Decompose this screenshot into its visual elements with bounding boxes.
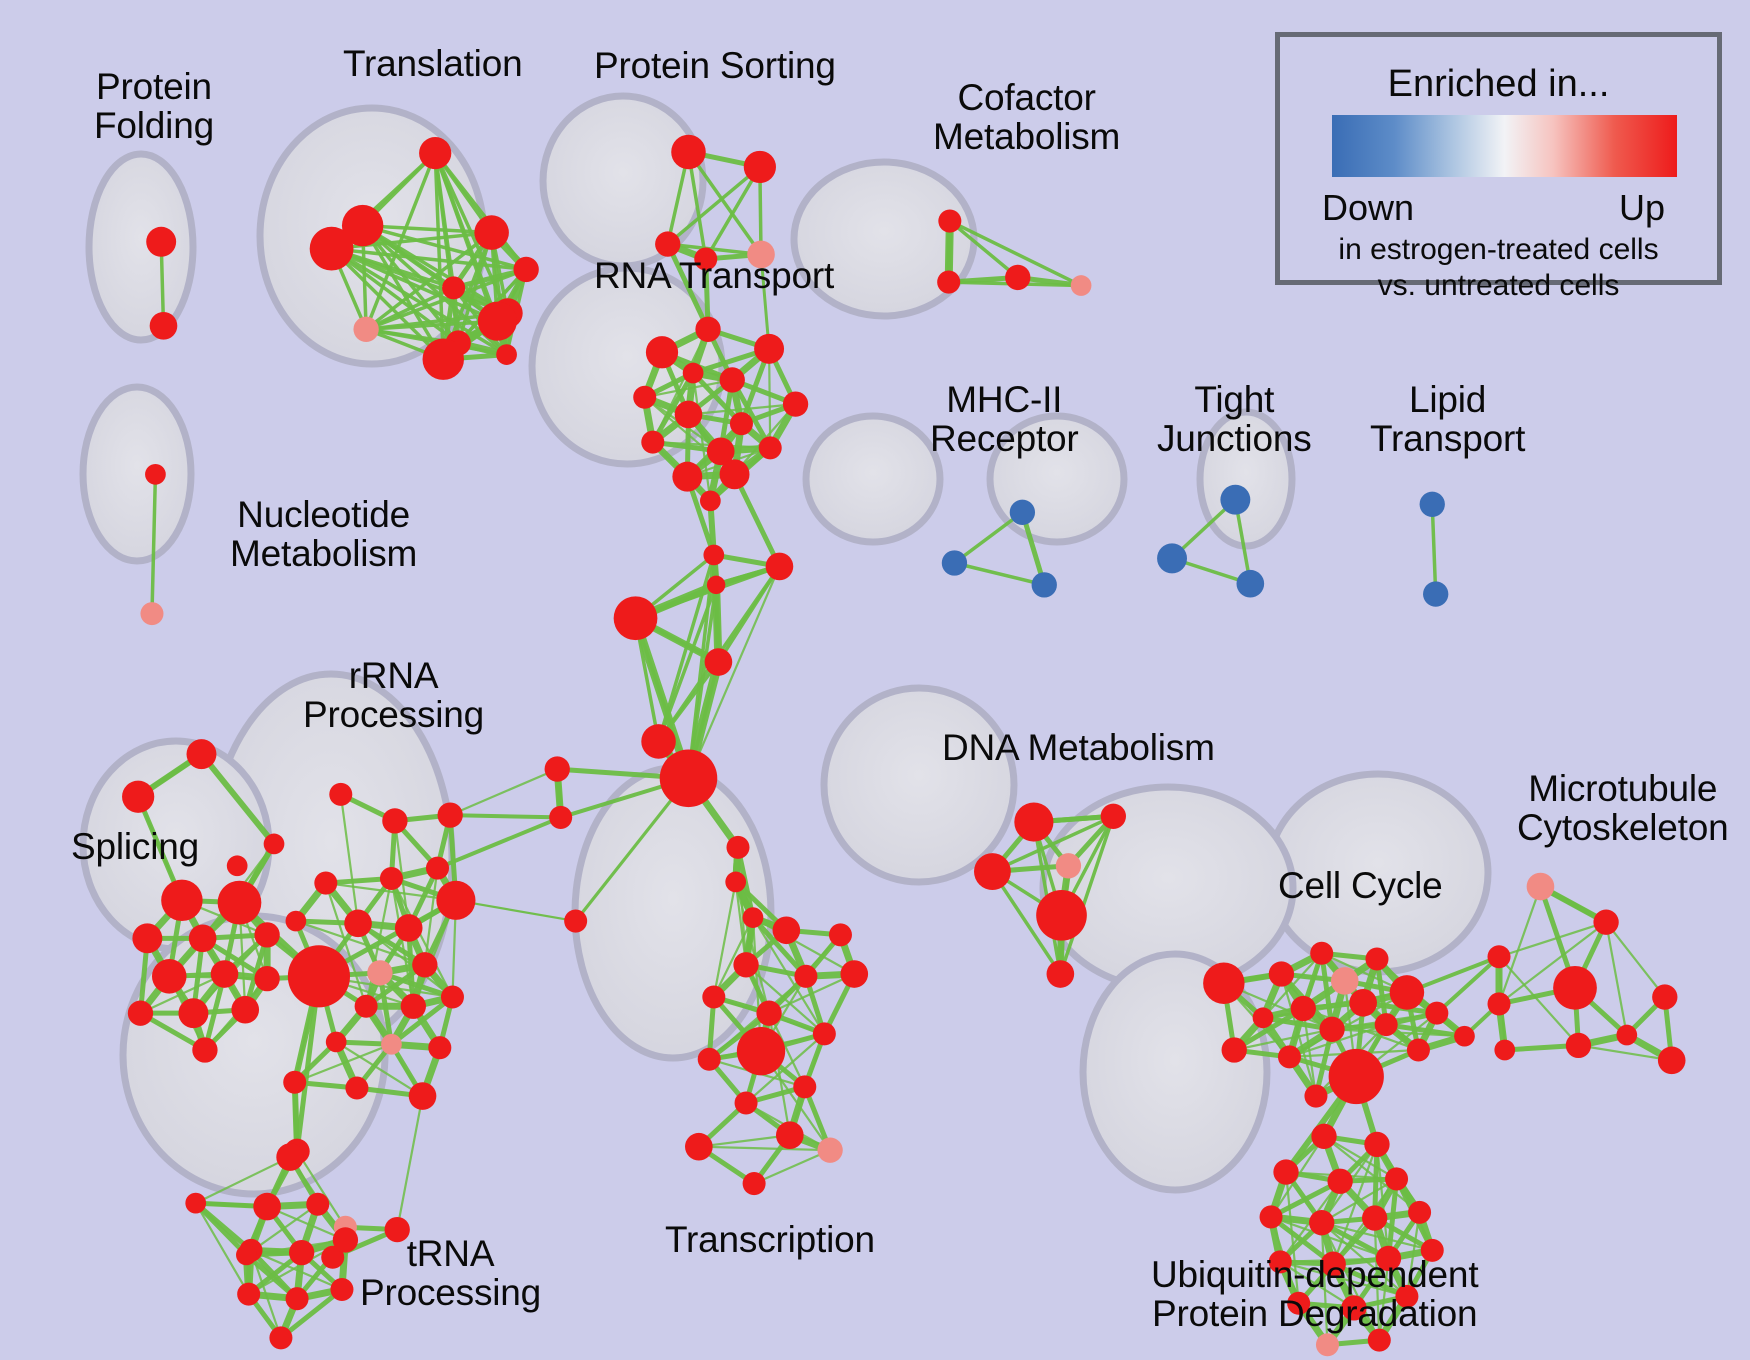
network-node[interactable] [766,553,794,581]
network-node[interactable] [227,855,248,876]
cluster-label-cell-cycle: Cell Cycle [1278,866,1443,905]
network-node[interactable] [1385,1167,1408,1190]
network-node[interactable] [813,1022,836,1045]
network-node[interactable] [438,802,463,827]
network-node[interactable] [1101,804,1126,829]
network-node[interactable] [441,986,464,1009]
network-node[interactable] [289,1240,314,1265]
network-node[interactable] [1273,1159,1298,1184]
network-node[interactable] [1047,960,1075,988]
network-node[interactable] [743,907,764,928]
network-node[interactable] [1329,1049,1384,1104]
network-node[interactable] [146,227,176,257]
network-node[interactable] [1309,1210,1334,1235]
network-node[interactable] [655,231,680,256]
network-node[interactable] [840,960,868,988]
cluster-label-tight-junctions: Tight Junctions [1157,380,1312,458]
network-node[interactable] [1331,967,1359,995]
cluster-blob-nucleotide-metabolism [83,387,191,561]
network-node[interactable] [253,1193,281,1221]
network-node[interactable] [264,834,285,855]
network-node[interactable] [683,363,704,384]
network-node[interactable] [1157,543,1187,573]
network-node[interactable] [549,806,572,829]
network-node[interactable] [1658,1047,1686,1075]
network-node[interactable] [1408,1201,1431,1224]
network-node[interactable] [1260,1205,1283,1228]
network-node[interactable] [513,257,538,282]
network-node[interactable] [152,959,187,994]
network-node[interactable] [1220,485,1250,515]
network-node[interactable] [1593,910,1618,935]
network-node[interactable] [829,923,852,946]
cluster-label-lipid-transport: Lipid Transport [1370,380,1525,458]
network-node[interactable] [344,910,372,938]
network-node[interactable] [269,1326,292,1349]
network-node[interactable] [426,857,449,880]
network-node[interactable] [140,602,163,625]
network-node[interactable] [1488,945,1511,968]
network-node[interactable] [733,952,758,977]
network-node[interactable] [1316,1333,1339,1356]
network-node[interactable] [1032,572,1057,597]
network-node[interactable] [700,490,721,511]
network-node[interactable] [412,952,437,977]
network-node[interactable] [353,317,378,342]
network-node[interactable] [1423,581,1448,606]
cluster-blob-protein-folding [89,154,193,340]
network-node[interactable] [428,1036,451,1059]
network-node[interactable] [1010,500,1035,525]
network-node[interactable] [735,1091,758,1114]
network-node[interactable] [1310,942,1333,965]
network-node[interactable] [641,431,664,454]
network-node[interactable] [646,336,678,368]
network-node[interactable] [474,215,509,250]
network-node[interactable] [436,881,475,920]
cluster-blob-mhc-ii-receptor [806,416,940,542]
network-figure: Protein FoldingTranslationProtein Sortin… [0,0,1750,1360]
cluster-label-rrna-processing: rRNA Processing [303,656,484,734]
network-node[interactable] [189,925,217,953]
network-node[interactable] [1365,948,1388,971]
network-node[interactable] [720,459,750,489]
network-node[interactable] [1616,1025,1637,1046]
cluster-label-mhc-ii-receptor: MHC-II Receptor [930,380,1079,458]
cluster-label-ubiquitin-protein-degradation: Ubiquitin-dependent Protein Degradation [1151,1255,1478,1333]
network-node[interactable] [675,401,703,429]
network-node[interactable] [707,576,725,594]
network-node[interactable] [345,1076,368,1099]
network-node[interactable] [401,994,426,1019]
network-node[interactable] [776,1121,804,1149]
network-node[interactable] [773,916,801,944]
network-node[interactable] [974,853,1011,890]
network-node[interactable] [703,545,724,566]
network-node[interactable] [1425,1002,1448,1025]
network-node[interactable] [283,1071,306,1094]
network-node[interactable] [1237,570,1265,598]
network-node[interactable] [423,338,464,379]
network-node[interactable] [367,960,392,985]
cluster-label-transcription: Transcription [665,1220,875,1259]
legend-subtitle-line2: vs. untreated cells [1280,269,1717,303]
cluster-label-rna-transport: RNA Transport [594,256,834,295]
network-node[interactable] [743,1172,766,1195]
network-node[interactable] [794,965,817,988]
network-node[interactable] [633,386,656,409]
network-node[interactable] [382,808,407,833]
network-node[interactable] [938,210,961,233]
network-node[interactable] [381,1034,402,1055]
network-node[interactable] [1203,963,1244,1004]
network-node[interactable] [380,867,403,890]
network-node[interactable] [286,1287,309,1310]
network-edge [450,769,557,815]
network-node[interactable] [1375,1013,1398,1036]
network-edge [699,1147,830,1150]
network-node[interactable] [1488,992,1511,1015]
cluster-blob-dna-metabolism [824,688,1014,882]
legend-box: Enriched in... Down Up in estrogen-treat… [1275,32,1722,285]
network-node[interactable] [1014,802,1053,841]
cluster-label-splicing: Splicing [71,827,199,866]
network-node[interactable] [1319,1017,1344,1042]
network-node[interactable] [185,1193,206,1214]
network-node[interactable] [1222,1037,1247,1062]
network-node[interactable] [478,302,517,341]
network-node[interactable] [695,317,720,342]
network-node[interactable] [330,1278,353,1301]
network-node[interactable] [793,1075,816,1098]
network-node[interactable] [759,436,782,459]
network-node[interactable] [178,998,208,1028]
network-node[interactable] [395,914,423,942]
network-edge [450,815,561,817]
network-node[interactable] [1494,1040,1515,1061]
network-node[interactable] [702,986,725,1009]
network-node[interactable] [937,271,960,294]
network-node[interactable] [326,1032,347,1053]
network-node[interactable] [545,756,570,781]
network-node[interactable] [1407,1038,1430,1061]
cluster-label-dna-metabolism: DNA Metabolism [942,728,1215,767]
network-node[interactable] [254,922,279,947]
network-node[interactable] [288,945,350,1007]
network-node[interactable] [1269,961,1294,986]
network-node[interactable] [744,151,776,183]
network-node[interactable] [1553,966,1597,1010]
network-edge [954,563,1044,585]
network-node[interactable] [1390,975,1425,1010]
network-node[interactable] [187,739,217,769]
network-edge [397,1096,422,1230]
network-node[interactable] [122,781,154,813]
network-edge [735,474,780,566]
network-node[interactable] [1291,996,1316,1021]
cluster-label-protein-sorting: Protein Sorting [594,46,836,85]
cluster-label-protein-folding: Protein Folding [94,67,214,145]
network-node[interactable] [1036,890,1087,941]
network-node[interactable] [1278,1045,1301,1068]
network-node[interactable] [310,227,354,271]
network-edge [954,512,1022,563]
network-node[interactable] [496,344,517,365]
network-node[interactable] [754,334,784,364]
network-node[interactable] [725,872,746,893]
legend-low-label: Down [1322,187,1414,229]
network-node[interactable] [685,1133,713,1161]
network-node[interactable] [614,596,658,640]
network-node[interactable] [1304,1085,1327,1108]
cluster-label-trna-processing: tRNA Processing [360,1234,541,1312]
network-node[interactable] [705,648,733,676]
network-node[interactable] [1327,1169,1352,1194]
network-node[interactable] [211,960,239,988]
network-node[interactable] [355,995,378,1018]
network-node[interactable] [329,783,352,806]
network-node[interactable] [145,464,166,485]
network-node[interactable] [730,412,753,435]
network-node[interactable] [333,1227,358,1252]
network-node[interactable] [1527,873,1555,901]
network-node[interactable] [218,881,262,925]
network-node[interactable] [698,1048,721,1071]
network-node[interactable] [671,135,706,170]
network-node[interactable] [1311,1124,1336,1149]
network-node[interactable] [660,750,718,808]
network-node[interactable] [276,1143,304,1171]
network-node[interactable] [286,911,307,932]
network-edge [1432,504,1435,594]
network-node[interactable] [192,1037,217,1062]
legend-high-label: Up [1619,187,1665,229]
network-node[interactable] [150,312,178,340]
cluster-label-microtubule-cytoskeleton: Microtubule Cytoskeleton [1517,769,1729,847]
network-node[interactable] [132,923,162,953]
network-node[interactable] [1005,265,1030,290]
network-node[interactable] [1056,853,1081,878]
legend-gradient-bar [1332,115,1677,177]
network-node[interactable] [1454,1026,1475,1047]
network-node[interactable] [306,1193,329,1216]
network-node[interactable] [942,550,967,575]
network-node[interactable] [672,462,702,492]
network-node[interactable] [1349,989,1377,1017]
network-node[interactable] [236,1245,257,1266]
cluster-label-translation: Translation [343,44,522,83]
network-node[interactable] [737,1027,785,1075]
network-node[interactable] [1566,1033,1591,1058]
network-node[interactable] [1362,1205,1387,1230]
network-node[interactable] [1420,492,1445,517]
network-node[interactable] [726,836,749,859]
network-node[interactable] [237,1283,260,1306]
network-node[interactable] [419,137,451,169]
network-edge [1606,922,1665,997]
network-node[interactable] [231,996,259,1024]
network-node[interactable] [1652,984,1677,1009]
network-node[interactable] [1071,275,1092,296]
network-node[interactable] [564,910,587,933]
network-node[interactable] [254,966,279,991]
network-node[interactable] [314,872,337,895]
cluster-label-nucleotide-metabolism: Nucleotide Metabolism [230,495,417,573]
legend-subtitle-line1: in estrogen-treated cells [1280,233,1717,267]
network-node[interactable] [783,391,808,416]
network-node[interactable] [641,724,676,759]
network-node[interactable] [720,367,745,392]
network-node[interactable] [1364,1132,1389,1157]
network-node[interactable] [817,1138,842,1163]
network-node[interactable] [442,276,465,299]
network-node[interactable] [161,880,202,921]
network-node[interactable] [409,1082,437,1110]
network-node[interactable] [128,1000,153,1025]
cluster-label-cofactor-metabolism: Cofactor Metabolism [933,78,1120,156]
legend-title: Enriched in... [1280,63,1717,106]
network-node[interactable] [756,1000,781,1025]
network-node[interactable] [1253,1007,1274,1028]
